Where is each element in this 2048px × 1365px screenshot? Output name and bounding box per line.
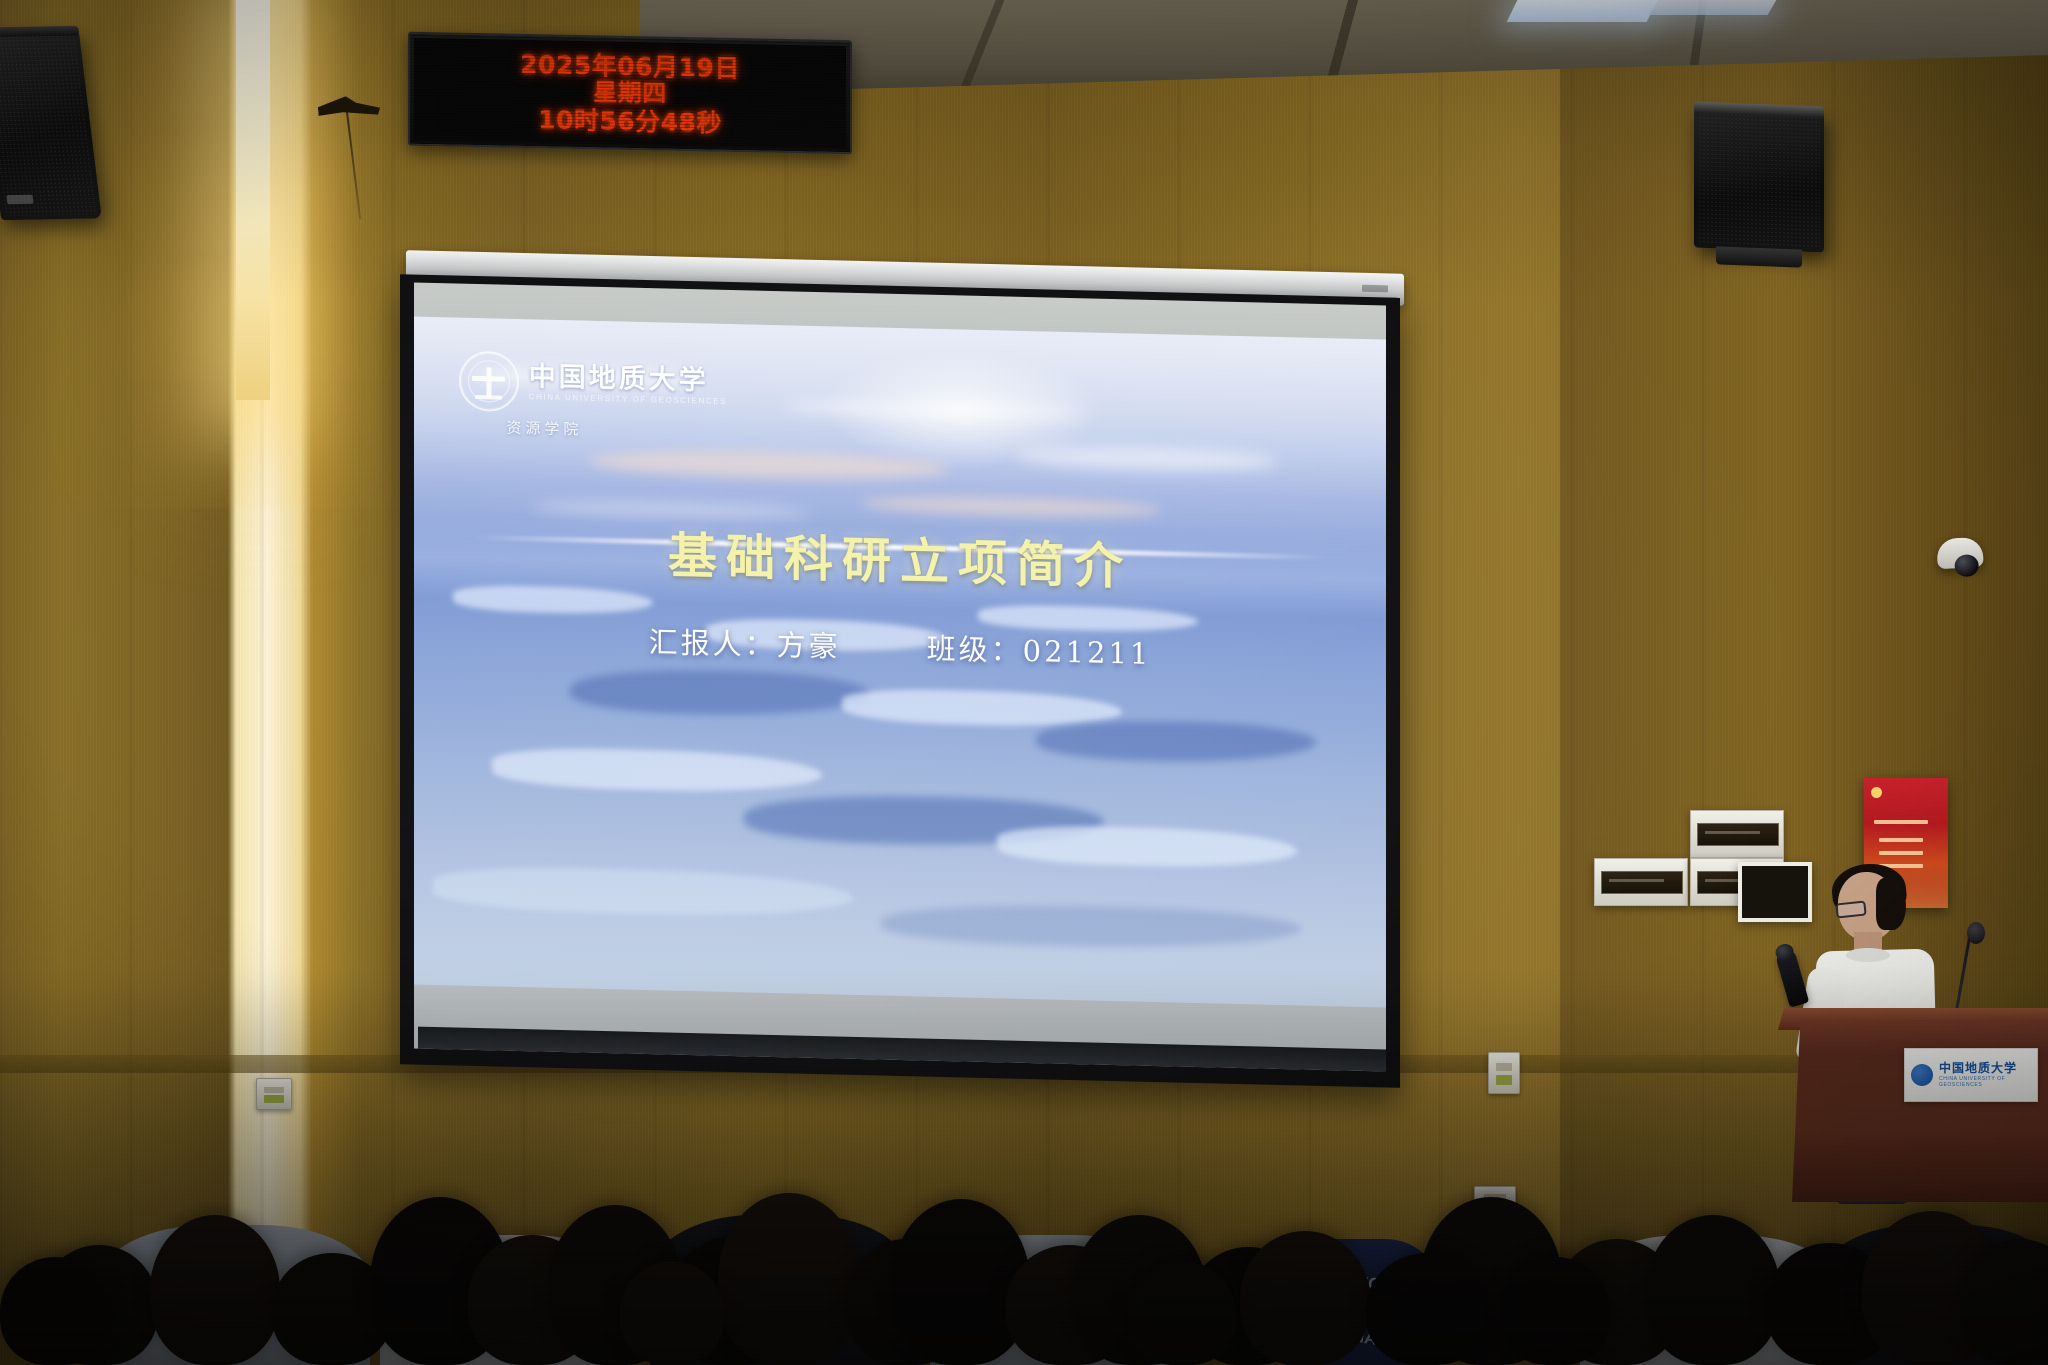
- photo-vignette: [0, 0, 2048, 1365]
- lecture-hall-photo: 2025年06月19日 星期四 10时56分48秒: [0, 0, 2048, 1365]
